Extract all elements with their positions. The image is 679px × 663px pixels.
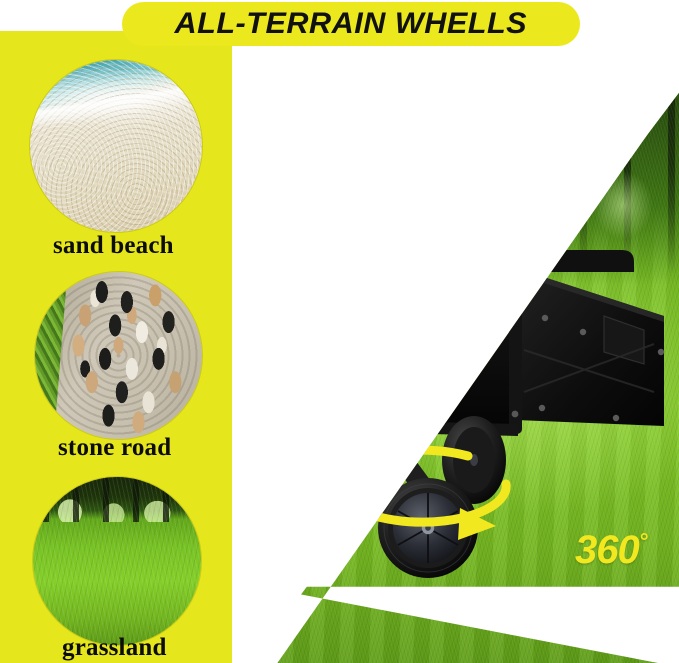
wagon-strap (368, 300, 394, 404)
handle-pivot-block (324, 248, 372, 262)
wagon-rivet (260, 411, 267, 418)
wagon-front-top-edge (264, 272, 516, 277)
wagon-wheel-assembly (274, 416, 506, 578)
handle-tube-collar-top (325, 88, 370, 97)
caster-stem-right (404, 420, 415, 448)
wagon-rivet (542, 315, 548, 321)
wagon-rivet (658, 349, 664, 355)
caster-stem-left (300, 424, 310, 450)
hub-spokes-left (292, 484, 340, 540)
handle-lower-stem-right (357, 262, 366, 320)
handle-pivot-bolt (333, 252, 339, 258)
wagon-rivet (613, 415, 619, 421)
wagon-front-panel (264, 272, 516, 424)
wagon-mesh-pocket-right (392, 300, 454, 404)
wheel-front-left (274, 422, 358, 554)
product-feature-infographic: 360° sand beach stone road grassland ALL… (0, 0, 679, 663)
callout-360-degrees: 360° (575, 528, 647, 573)
wagon-rivet (512, 297, 519, 304)
axle-tube (308, 442, 418, 455)
wagon-handle-assembly (297, 30, 410, 320)
wagon-rivet (539, 405, 545, 411)
wagon-rivet (260, 297, 267, 304)
wagon-rivet (580, 329, 586, 335)
handle-tube-collar-mid (325, 158, 370, 167)
handle-rivet (400, 67, 405, 72)
wagon-rivet (512, 411, 519, 418)
feature-grassland[interactable]: grassland (0, 0, 260, 663)
title-banner: ALL-TERRAIN WHELLS (122, 2, 580, 46)
callout-360-value: 360 (575, 528, 639, 572)
feature-image-grassland (33, 477, 201, 645)
handle-tube-right (355, 92, 366, 312)
handle-tube-left (329, 92, 340, 312)
handle-pivot-bolt (359, 252, 365, 258)
axle-clamp (348, 440, 372, 452)
wagon-body (252, 250, 664, 450)
grassland-artwork (33, 477, 201, 645)
tyre-left (274, 470, 358, 554)
caster-fork-left (286, 444, 328, 496)
wagon-top-rail-far (260, 250, 634, 272)
wagon-mesh-pocket-left (286, 300, 348, 404)
feature-label-grassland: grassland (62, 634, 167, 662)
handle-lower-stem-left (332, 262, 341, 320)
degree-symbol: ° (639, 529, 647, 554)
wagon-corner-post-mid (509, 258, 522, 434)
handle-rivet (306, 68, 311, 73)
hub-left (288, 484, 344, 540)
page-title: ALL-TERRAIN WHELLS (175, 7, 528, 41)
